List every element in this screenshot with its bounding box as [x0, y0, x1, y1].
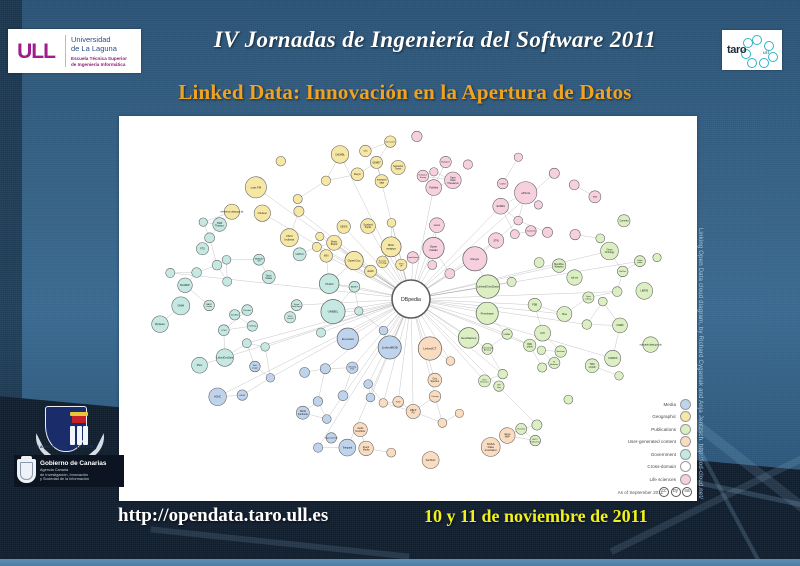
lod-node: MySpace: [152, 316, 169, 333]
svg-text:Telegraaf: Telegraaf: [342, 446, 352, 449]
cc-license-icons: cc by sa: [659, 487, 692, 497]
legend-label: User-generated content: [628, 439, 676, 444]
lod-node: [564, 395, 573, 404]
lod-node: [192, 268, 202, 278]
lod-node: educatin.data.gov.uk: [640, 337, 663, 353]
taro-ring-circle: [768, 52, 778, 62]
lod-node: [538, 363, 547, 372]
lod-node: [313, 443, 322, 452]
lod-node: Yahoo!GeoPlanet: [291, 300, 302, 311]
svg-text:LinkedGeoData: LinkedGeoData: [477, 285, 499, 289]
svg-text:ChEMBL: ChEMBL: [335, 153, 345, 156]
lod-node: MusicBrainz: [327, 235, 342, 250]
svg-text:LIBRIS: LIBRIS: [641, 290, 649, 293]
lod-node: Diseasome: [385, 136, 397, 147]
lod-node: EurostatOntology: [377, 256, 389, 268]
svg-text:LinkedMDB: LinkedMDB: [382, 346, 398, 350]
lod-node: ScotlandPupils: [361, 219, 376, 234]
ull-logo: ULL Universidad de La Laguna Escuela Téc…: [8, 29, 141, 73]
lod-node: [537, 346, 546, 355]
lod-node: MARCCodes: [204, 300, 215, 311]
lod-node: ChroniclingAmerica: [482, 343, 493, 354]
lod-node: [430, 168, 438, 176]
svg-text:OMIM: OMIM: [178, 305, 185, 308]
lod-node: flickrwrappr: [250, 361, 261, 372]
legend-label: Government: [651, 452, 676, 457]
lod-node: transportdata: [375, 175, 388, 188]
lod-node: VIVOIndiana: [280, 229, 298, 247]
lod-node: OpenCalais: [423, 237, 444, 258]
lod-node: YAGO: [319, 274, 339, 294]
svg-text:Italianpublic: Italianpublic: [637, 259, 642, 264]
lod-node: PubMed: [426, 180, 442, 196]
svg-text:EURES: EURES: [497, 205, 506, 208]
lod-node: GeoNames: [458, 328, 479, 349]
svg-text:EurostatOntology: EurostatOntology: [378, 259, 386, 264]
legend-label: Media: [663, 402, 676, 407]
cabildo-ring-text: CABILDO DE TENERIFE: [36, 444, 94, 449]
lod-node: OrdnanceSurvey: [417, 170, 429, 182]
legend-item: Media: [579, 398, 691, 411]
lod-node: [199, 218, 207, 226]
lod-node: [379, 326, 388, 335]
svg-text:MusicBrainz: MusicBrainz: [331, 240, 339, 246]
svg-text:Budapest: Budapest: [441, 161, 450, 164]
lod-node: [205, 233, 215, 243]
lod-node: [313, 397, 323, 407]
lod-node: [498, 369, 508, 379]
lod-node: [446, 357, 455, 366]
gobcan-title: Gobierno de Canarias: [40, 460, 106, 468]
legend-swatch-publications: [680, 424, 691, 435]
lod-node: [598, 297, 607, 306]
lod-node: RAMEAUSH: [254, 254, 265, 265]
diagram-credit: Linking Open Data cloud diagram, by Rich…: [697, 228, 703, 488]
svg-text:Eurécom: Eurécom: [557, 351, 565, 353]
lod-node: [569, 180, 579, 190]
lod-node: reference.data.gov.uk: [220, 204, 244, 219]
lod-node: [300, 367, 310, 377]
lod-node: [223, 277, 232, 286]
lod-node: EventMedia: [359, 441, 374, 456]
legend-item: User-generated content: [579, 436, 691, 449]
lod-node: [379, 399, 388, 408]
lod-node: [532, 420, 542, 430]
lod-node: RDFohloh: [524, 339, 536, 351]
lod-node: Last.FM: [245, 177, 266, 198]
svg-text:Wiki: Wiki: [364, 151, 368, 153]
legend-item: Publications: [579, 423, 691, 436]
svg-text:WordNet: WordNet: [231, 314, 239, 317]
svg-text:Cornetto: Cornetto: [619, 220, 629, 223]
lod-node: UniParc: [617, 266, 628, 277]
bottom-accent-bar: [0, 559, 800, 566]
lod-node: SWDog: [494, 381, 504, 391]
svg-text:EEA: EEA: [593, 196, 598, 199]
lod-node: Budapest: [440, 156, 451, 167]
svg-text:DBpedia: DBpedia: [401, 297, 421, 303]
lod-node: MoseleyFolk: [347, 362, 358, 373]
lod-node: LinkedGeoData: [476, 275, 499, 298]
lod-node: FTS: [196, 243, 208, 255]
legend-label: Publications: [651, 427, 676, 432]
svg-text:reference.data.gov.uk: reference.data.gov.uk: [220, 211, 244, 214]
svg-text:Pokedex: Pokedex: [243, 310, 251, 312]
svg-text:ChroniclingAmerica: ChroniclingAmerica: [482, 348, 492, 352]
lod-node-dbpedia: DBpedia: [392, 280, 430, 318]
lod-node: Lexvo: [430, 218, 445, 233]
legend-swatch-media: [680, 399, 691, 410]
lod-node: Klappstuhlclub: [325, 433, 339, 443]
lod-node: LinkedMDB: [378, 336, 401, 359]
svg-text:GEMET: GEMET: [372, 161, 381, 164]
legend-item: Cross-domain: [579, 461, 691, 474]
svg-text:Eurostat: Eurostat: [342, 337, 354, 341]
legend-label: Life sciences: [649, 477, 676, 482]
lod-node: Climbing: [247, 321, 257, 331]
footer-url[interactable]: http://opendata.taro.ull.es: [118, 505, 328, 527]
lod-node: ChEMBL: [331, 146, 349, 164]
svg-text:STW: STW: [493, 239, 499, 242]
svg-text:FanHubz: FanHubz: [426, 459, 437, 462]
svg-text:AEMET: AEMET: [351, 285, 359, 288]
lod-node: Pfam: [192, 357, 208, 373]
lod-node: EEA: [589, 191, 601, 203]
gobcan-crown-icon: [21, 456, 32, 460]
lod-node: [387, 218, 396, 227]
lod-node: [549, 168, 559, 178]
poster-canvas: ULL Universidad de La Laguna Escuela Téc…: [0, 0, 800, 566]
legend-label: Geographic: [652, 414, 676, 419]
lod-node: totl.net: [567, 270, 582, 285]
svg-text:MARCCodes: MARCCodes: [206, 303, 212, 308]
cabildo-pillars-icon: [70, 426, 88, 446]
svg-text:OpenCalais: OpenCalais: [429, 245, 438, 252]
svg-text:Lexvo: Lexvo: [434, 224, 441, 227]
svg-text:Pisa: Pisa: [562, 313, 567, 316]
lod-node: [514, 153, 522, 161]
svg-text:Discogs: Discogs: [431, 396, 438, 398]
lod-node: OpenCalais: [262, 271, 275, 284]
lod-node: Revyu: [463, 247, 487, 271]
lod-node: SGD: [393, 396, 404, 407]
lod-node: [445, 269, 455, 279]
lod-node: [653, 253, 661, 261]
svg-text:MGI: MGI: [324, 255, 329, 258]
lod-node: CORDIS: [605, 350, 621, 366]
lod-node: [338, 391, 348, 401]
lod-node: [293, 194, 302, 203]
lod-node: [322, 415, 331, 424]
svg-text:UniRef: UniRef: [500, 183, 507, 185]
svg-text:UniParc: UniParc: [619, 271, 626, 273]
lod-node: [266, 374, 275, 383]
lod-node: GEMET: [370, 156, 382, 168]
lod-node: [428, 261, 437, 270]
lod-node: [514, 216, 523, 225]
page-title: IV Jornadas de Ingeniería del Software 2…: [150, 27, 720, 53]
lod-node: [321, 176, 330, 185]
svg-text:CiteSeer: CiteSeer: [258, 212, 268, 215]
lod-node: GESIS: [337, 220, 350, 233]
lod-node: UMBEL: [502, 329, 512, 339]
lod-node: [355, 307, 363, 315]
svg-text:HGNC: HGNC: [214, 396, 221, 399]
lod-node: Taxonomy: [526, 226, 537, 237]
lod-node: [212, 260, 222, 270]
svg-text:KEGG: KEGG: [239, 395, 245, 397]
svg-text:LOV: LOV: [540, 332, 545, 335]
cabildo-de-tenerife-logo: CABILDO DE TENERIFE: [32, 404, 98, 458]
svg-text:Klappstuhlclub: Klappstuhlclub: [325, 437, 339, 440]
ull-university-name: Universidad de La Laguna: [71, 35, 138, 53]
lod-node: [612, 287, 622, 297]
lod-node: WordNet: [230, 310, 240, 320]
taro-logo: taro ull: [722, 30, 782, 70]
svg-text:UniProt: UniProt: [296, 253, 304, 256]
lod-node: FanHubz: [422, 452, 439, 469]
svg-text:PubMed: PubMed: [429, 186, 439, 189]
taro-ring-circle: [759, 58, 769, 68]
lod-node: [222, 255, 231, 264]
lod-node: Freebase: [476, 302, 498, 324]
lod-node: UniProt: [293, 248, 306, 261]
svg-text:CORDIS: CORDIS: [608, 357, 618, 360]
svg-text:ChEBI: ChEBI: [617, 324, 624, 327]
lod-node: NASADataIncubator: [481, 438, 500, 457]
lod-node: [320, 364, 330, 374]
lod-node: LinkedGeoData: [216, 349, 234, 366]
svg-text:Pfam: Pfam: [197, 364, 203, 367]
ull-logo-mark: ULL: [8, 41, 60, 62]
page-subtitle: Linked Data: Innovación en la Apertura d…: [60, 80, 750, 105]
svg-text:ePrints: ePrints: [521, 191, 531, 195]
lod-cloud-diagram: DBpediaFreebaseGeoNamesLinkedCTLinkedMDB…: [119, 116, 697, 501]
lod-node: Eurostat: [337, 328, 358, 349]
lod-node: [316, 328, 325, 337]
lod-node: [276, 156, 286, 166]
lod-node: DBLPFU: [406, 404, 420, 418]
lod-node: OpenDataThesaurus: [445, 172, 462, 189]
lod-node: STW: [488, 233, 503, 248]
lod-node: UMBEL: [321, 300, 345, 324]
svg-text:LinkedGeoData: LinkedGeoData: [216, 357, 233, 360]
lod-node: [366, 393, 375, 402]
svg-text:Diseasome: Diseasome: [385, 141, 396, 143]
lod-node: UniRef: [497, 178, 508, 189]
svg-text:YAGO: YAGO: [325, 282, 334, 286]
cc-by-icon: by: [671, 487, 681, 497]
svg-text:Revyu: Revyu: [354, 173, 361, 176]
svg-text:dotAC: dotAC: [367, 270, 374, 273]
lod-node: OpenLibrary: [407, 252, 418, 263]
lod-node: Pisa: [557, 307, 572, 322]
lod-node: LOV: [535, 325, 551, 341]
svg-text:PDB: PDB: [532, 304, 537, 307]
lod-node: LIBRIS: [636, 283, 653, 300]
lod-node: Bio2RDF: [178, 278, 193, 293]
lod-node: GeneOntology: [601, 242, 619, 260]
svg-text:FTS: FTS: [200, 248, 205, 251]
lod-node: [534, 258, 544, 268]
lod-node: ePrints: [515, 182, 537, 204]
lod-node: [510, 230, 519, 239]
lod-node: [364, 380, 373, 389]
lod-node: [463, 160, 472, 169]
lod-node: SSWThesaur.: [213, 218, 227, 232]
lod-node: [570, 229, 580, 239]
gobierno-de-canarias-logo: Gobierno de Canarias Agencia Canaria de …: [14, 455, 124, 487]
svg-text:UMBEL: UMBEL: [504, 334, 512, 336]
cc-sa-icon: sa: [682, 487, 692, 497]
lod-node: Discogs: [429, 391, 441, 403]
lod-node: St.Andrews: [549, 357, 560, 368]
taro-subscript: ull: [763, 50, 769, 55]
svg-text:MetofficeWeather: MetofficeWeather: [554, 263, 564, 269]
cabildo-crown-icon: [72, 415, 86, 423]
lod-node: [507, 277, 516, 286]
svg-text:Eurostat: Eurostat: [517, 428, 525, 431]
taro-wordmark: taro: [727, 44, 746, 56]
lod-node: Eurécom: [555, 346, 566, 357]
lod-node: SemanticTweet: [391, 160, 405, 174]
lod-node: Pokedex: [242, 305, 253, 316]
lod-node: MetofficeWeather: [552, 259, 566, 273]
footer-dates: 10 y 11 de noviembre de 2011: [424, 506, 648, 527]
lod-node: [596, 234, 605, 243]
svg-text:GESIS: GESIS: [340, 226, 348, 229]
svg-text:OpenLibrary: OpenLibrary: [407, 257, 418, 259]
lod-node: Cornetto: [618, 215, 630, 227]
lod-node: ChEBI: [613, 318, 628, 333]
taro-ring-circle: [752, 35, 762, 45]
lod-node: VIVOCornell: [285, 312, 296, 323]
lod-node: [316, 232, 324, 240]
legend-swatch-ugc: [680, 436, 691, 447]
lod-node: HGNC: [209, 388, 227, 406]
lod-node: TWCLOGD: [585, 359, 599, 373]
lod-node: [387, 448, 396, 457]
svg-text:SGD: SGD: [396, 402, 401, 404]
legend-item: Geographic: [579, 411, 691, 424]
lod-node: [615, 372, 624, 381]
lod-node: MGI: [320, 250, 333, 263]
legend-item: Government: [579, 448, 691, 461]
legend-swatch-geographic: [680, 411, 691, 422]
lod-node: flickrwrappr: [381, 237, 401, 257]
lod-node: NTUResource: [479, 375, 491, 387]
diagram-legend: Media Geographic Publications User-gener…: [579, 398, 691, 486]
lod-node: Telegraaf: [339, 439, 356, 456]
svg-text:Freebase: Freebase: [481, 311, 494, 315]
lod-node: [294, 206, 304, 216]
legend-swatch-lifesciences: [680, 474, 691, 485]
lod-node: KEGG: [237, 390, 247, 400]
svg-text:Revyu: Revyu: [471, 257, 480, 261]
lod-node: [534, 201, 542, 209]
lod-node: OMIM: [172, 297, 190, 315]
lod-node: WorldFactbook: [296, 406, 309, 419]
lod-node: [312, 242, 321, 251]
lod-node: dotAC: [365, 265, 377, 277]
svg-text:LinkedCT: LinkedCT: [423, 347, 436, 351]
taro-ring-circle: [747, 58, 757, 68]
svg-text:Climbing: Climbing: [248, 326, 256, 328]
lod-node: PDB: [528, 298, 541, 311]
diagram-as-of-date: As of September 2011: [618, 490, 663, 495]
lod-node: EUTCProductions: [530, 435, 541, 446]
lod-node: OpenCyc: [345, 251, 363, 269]
lod-node: GeoSpecies: [428, 373, 442, 387]
svg-text:SWDog: SWDog: [497, 385, 501, 389]
gobcan-subtitle: Agencia Canaria de Investigación, Innova…: [40, 468, 106, 482]
legend-swatch-government: [680, 449, 691, 460]
svg-text:OpenLibrary: OpenLibrary: [585, 296, 591, 300]
svg-text:Bio2RDF: Bio2RDF: [180, 284, 190, 287]
svg-text:EventMedia: EventMedia: [363, 446, 370, 452]
lod-node: VIVOUF: [396, 259, 407, 270]
lod-node: [166, 268, 175, 277]
lod-node: [542, 227, 552, 237]
svg-text:Last.FM: Last.FM: [251, 185, 262, 189]
svg-text:LCSH: LCSH: [221, 330, 227, 332]
lod-node: [455, 409, 463, 417]
lod-node: EURES: [493, 198, 509, 214]
legend-swatch-crossdomain: [680, 461, 691, 472]
legend-item: Life sciences: [579, 473, 691, 486]
legend-label: Cross-domain: [647, 464, 676, 469]
ull-school-name: Escuela Técnica Superior de Ingeniería I…: [71, 56, 138, 68]
svg-text:TWCLOGD: TWCLOGD: [589, 363, 596, 369]
lod-node: Revyu: [351, 168, 364, 181]
lod-node: Wiki: [360, 145, 372, 157]
svg-text:totl.net: totl.net: [571, 276, 579, 279]
lod-node: [582, 320, 592, 330]
svg-text:OpenCyc: OpenCyc: [348, 259, 361, 263]
lod-node: LCSH: [218, 325, 229, 336]
lod-node: [438, 418, 447, 427]
lod-node: AudioScrobbler: [353, 423, 367, 437]
lod-node: LinkedCT: [418, 337, 441, 360]
lod-node: AEMET: [349, 281, 360, 292]
lod-node: Eurostat: [516, 423, 527, 434]
lod-node: [261, 343, 270, 352]
ull-logo-divider: [65, 35, 66, 67]
gobcan-shield-icon: [17, 459, 36, 483]
svg-text:MySpace: MySpace: [155, 323, 166, 326]
lod-node: [412, 131, 422, 141]
svg-text:educatin.data.gov.uk: educatin.data.gov.uk: [640, 344, 663, 347]
lod-node: OpenLibrary: [583, 292, 594, 303]
svg-text:GeoNames: GeoNames: [461, 336, 477, 340]
lod-node: JanusAMP: [500, 428, 516, 444]
lod-node: CiteSeer: [254, 205, 270, 221]
lod-node: Italianpublic: [634, 256, 645, 267]
cc-icon: cc: [659, 487, 669, 497]
svg-text:UMBEL: UMBEL: [328, 310, 339, 314]
lod-node: [242, 339, 251, 348]
svg-text:Taxonomy: Taxonomy: [526, 231, 535, 233]
